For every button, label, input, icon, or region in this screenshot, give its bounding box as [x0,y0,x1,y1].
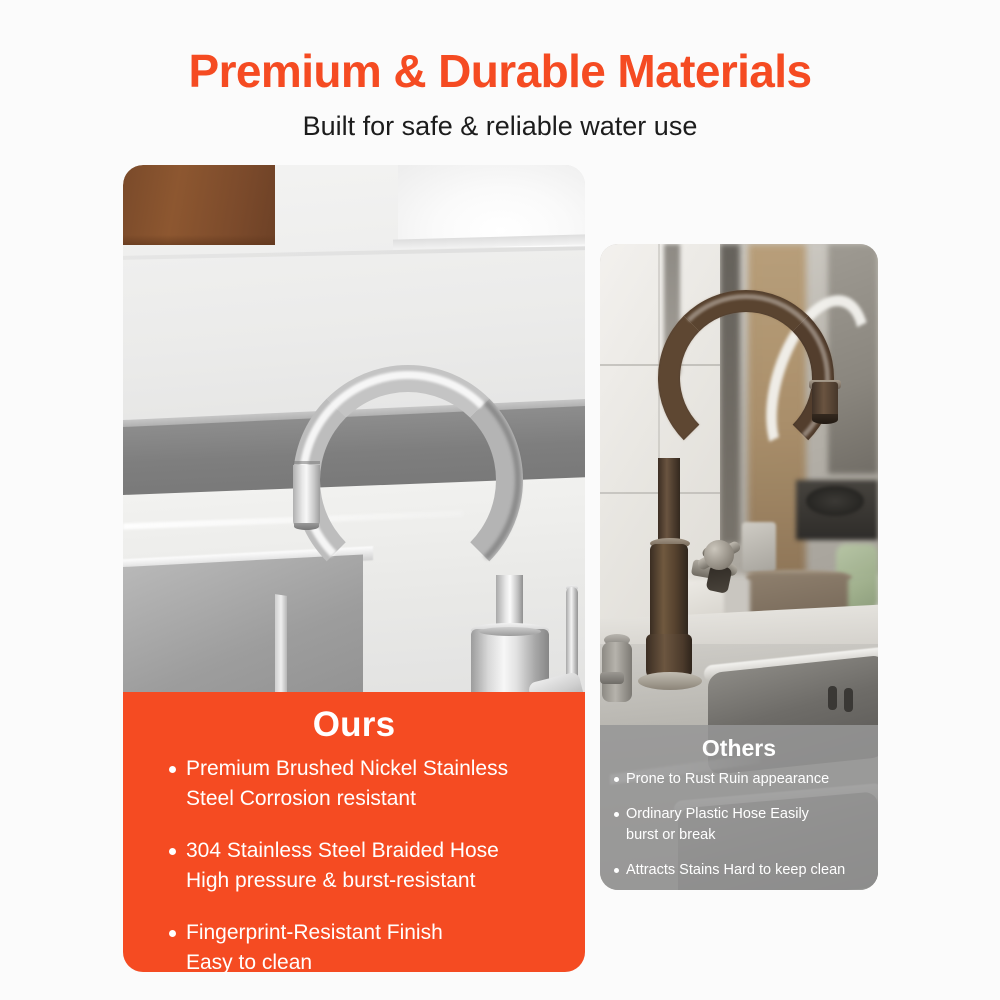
others-drawback-list: Prone to Rust Ruin appearance Ordinary P… [614,769,872,895]
sink-overflow-slot [844,688,853,712]
rusty-spout-opening [812,414,838,424]
rusty-arc-highlight [662,294,830,462]
others-label: Others [600,733,878,763]
page-subtitle: Built for safe & reliable water use [0,108,1000,144]
others-panel: Others Prone to Rust Ruin appearance Ord… [600,725,878,890]
list-item: 304 Stainless Steel Braided Hose High pr… [169,836,569,896]
cross-handle-hub [704,540,734,570]
gooseneck-shadow [295,367,521,593]
metal-cup [742,522,776,572]
faucet-spout [293,465,320,527]
faucet-gooseneck [293,365,523,665]
list-item: Fingerprint-Resistant Finish Easy to cle… [169,918,569,978]
spout-aerator [294,523,319,530]
rusty-base-ring [638,672,702,690]
rusty-spout [812,382,838,418]
rusty-faucet-gooseneck [658,290,834,520]
ours-panel: Ours Premium Brushed Nickel Stainless St… [123,692,585,972]
soap-dispenser-spout [600,672,624,684]
infographic-page: Premium & Durable Materials Built for sa… [0,0,1000,1000]
page-title: Premium & Durable Materials [0,44,1000,98]
wood-cabinet [123,165,275,245]
faucet-collar [479,627,541,636]
list-item: Premium Brushed Nickel Stainless Steel C… [169,754,569,814]
list-item: Attracts Stains Hard to keep clean [614,860,872,881]
list-item: Ordinary Plastic Hose Easily burst or br… [614,804,872,846]
ours-label: Ours [123,704,585,746]
spout-ring [293,461,320,464]
list-item: Prone to Rust Ruin appearance [614,769,872,790]
ours-feature-list: Premium Brushed Nickel Stainless Steel C… [169,754,569,1000]
sink-overflow-slot [828,686,837,710]
